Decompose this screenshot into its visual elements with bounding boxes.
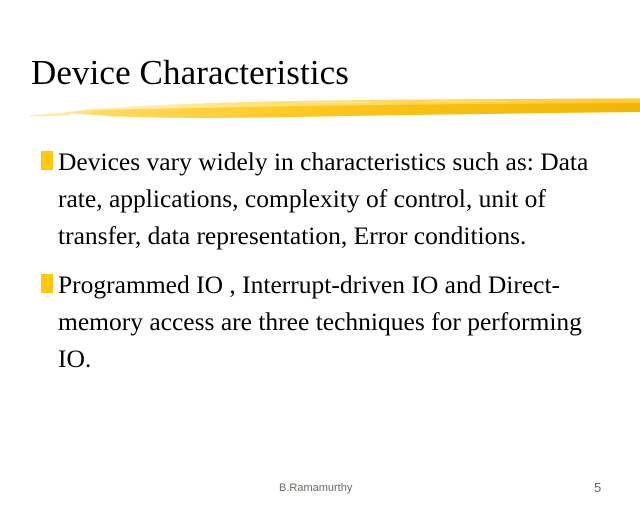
page-title: Device Characteristics bbox=[31, 53, 349, 93]
brush-stroke-highlight bbox=[78, 99, 640, 110]
list-item-text: Devices vary widely in characteristics s… bbox=[58, 147, 588, 250]
brush-stroke-tail bbox=[30, 113, 70, 117]
slide-canvas: Device Characteristics bbox=[0, 0, 640, 512]
footer-page-number: 5 bbox=[594, 480, 601, 495]
brush-stroke-body bbox=[62, 99, 640, 118]
list-item: Programmed IO , Interrupt-driven IO and … bbox=[34, 266, 614, 377]
list-item-text: Programmed IO , Interrupt-driven IO and … bbox=[58, 270, 582, 373]
brush-stroke-underline-icon bbox=[0, 92, 640, 130]
footer-author: B.Ramamurthy bbox=[279, 482, 352, 495]
square-bullet-icon bbox=[41, 151, 53, 170]
brush-stroke-texture bbox=[110, 101, 638, 117]
square-bullet-icon bbox=[41, 274, 53, 293]
bullet-list: Devices vary widely in characteristics s… bbox=[34, 143, 614, 389]
list-item: Devices vary widely in characteristics s… bbox=[34, 143, 614, 254]
